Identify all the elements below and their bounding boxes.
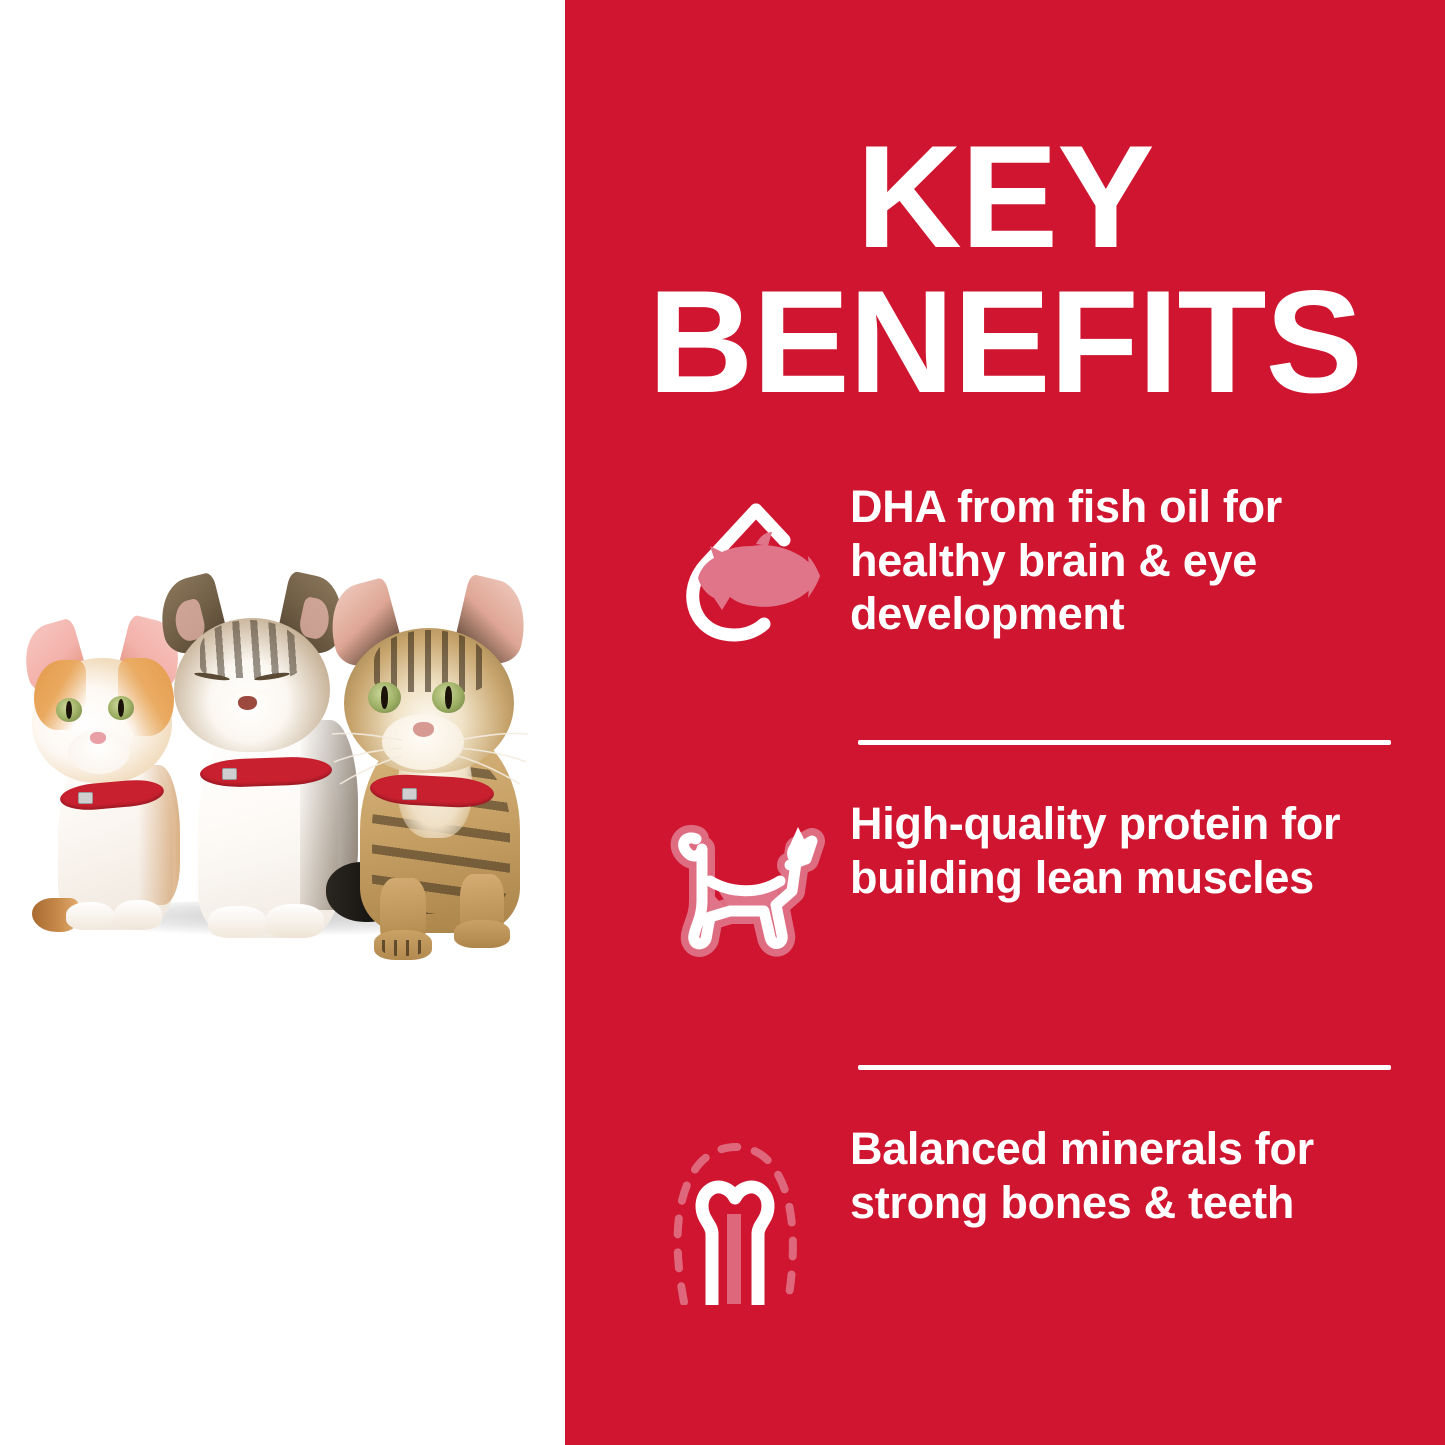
title-line-2: BENEFITS [565, 273, 1445, 412]
benefits-list: DHA from fish oil for healthy brain & ey… [565, 480, 1445, 1362]
benefit-text-minerals: Balanced minerals for strong bones & tee… [850, 1122, 1397, 1229]
kitten-eye-right [432, 682, 465, 713]
title-line-1: KEY [565, 128, 1445, 267]
page-title: KEY BENEFITS [565, 128, 1445, 411]
kitten-eye-left [56, 698, 82, 722]
kitten-eye-right [108, 696, 134, 720]
key-benefits-panel: KEY BENEFITS [0, 0, 1445, 1445]
kitten-paw-back [454, 920, 510, 948]
brown-tabby-kitten [320, 578, 555, 958]
kitten-photo-panel [0, 0, 565, 1445]
benefits-panel: KEY BENEFITS [565, 0, 1445, 1445]
kitten-head-marking-left [34, 660, 86, 730]
kitten-paw-front [374, 930, 432, 960]
cat-muscle-icon [660, 797, 850, 965]
benefit-item-dha: DHA from fish oil for healthy brain & ey… [565, 480, 1445, 720]
benefit-divider-1 [858, 740, 1391, 745]
kitten-nose [90, 732, 106, 744]
benefit-text-dha: DHA from fish oil for healthy brain & ey… [850, 480, 1397, 641]
kitten-collar-buckle [222, 768, 237, 780]
benefit-text-protein: High-quality protein for building lean m… [850, 797, 1397, 904]
kitten-paw-left [208, 906, 266, 938]
kitten-forehead-stripes [200, 620, 300, 678]
fish-oil-droplet-icon [660, 480, 850, 648]
benefit-divider-2 [858, 1065, 1391, 1070]
benefit-item-minerals: Balanced minerals for strong bones & tee… [565, 1122, 1445, 1362]
benefit-item-protein: High-quality protein for building lean m… [565, 797, 1445, 1047]
kitten-collar-buckle [402, 788, 417, 800]
kitten-eye-left [368, 682, 401, 713]
bone-icon [660, 1122, 850, 1305]
kitten-nose [238, 696, 257, 710]
kitten-collar-buckle [78, 792, 93, 804]
kittens-photo [0, 570, 560, 1000]
kitten-paw-right [266, 904, 324, 938]
kitten-paw-left [66, 902, 114, 930]
